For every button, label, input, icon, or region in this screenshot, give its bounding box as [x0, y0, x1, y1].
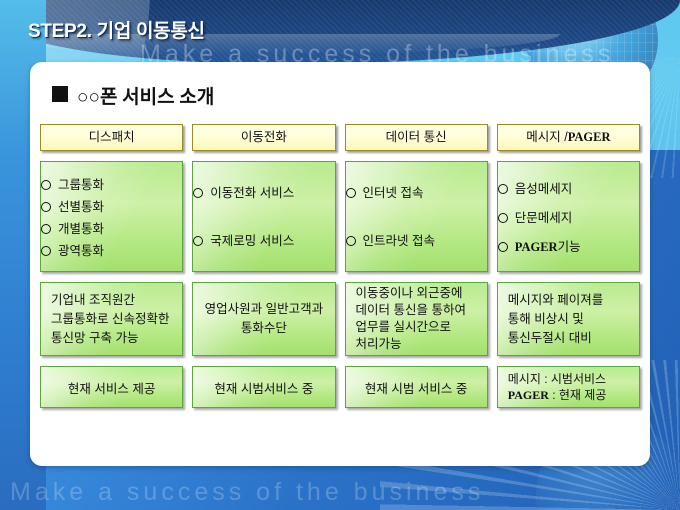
- square-bullet-icon: [52, 86, 68, 102]
- feature-box-data-comm[interactable]: 인터넷 접속 인트라넷 접속: [345, 161, 488, 272]
- table-cell: 기업내 조직원간 그룹통화로 신속정확한 통신망 구축 가능: [40, 282, 183, 356]
- status-badge: 현재 시범서비스 중: [214, 378, 313, 397]
- table-header-row: 디스패치 이동전화 데이터 통신 메시지 /PAGER: [40, 124, 640, 151]
- list-item: 광역통화: [41, 240, 182, 262]
- table-cell: 이동중이나 외근중에 데이터 통신을 통하여 업무를 실시간으로 처리가능: [345, 282, 488, 356]
- description-line: 이동중이나 외근중에: [356, 285, 487, 302]
- list-item-label: 인트라넷 접속: [363, 230, 435, 252]
- presentation-slide: Make a success of the business Make a su…: [0, 0, 680, 510]
- circle-bullet-icon: [346, 188, 356, 198]
- card-heading-text: ○○폰 서비스 소개: [77, 87, 214, 108]
- description-text: 기업내 조직원간 그룹통화로 신속정확한 통신망 구축 가능: [41, 291, 182, 348]
- list-item-label: 선별통화: [58, 196, 104, 218]
- description-line: 메시지와 페이져를: [508, 291, 639, 310]
- status-badge: 현재 시범 서비스 중: [365, 378, 467, 397]
- list-item-label: 국제로밍 서비스: [210, 230, 294, 252]
- list-item-label: 단문메세지: [515, 207, 573, 229]
- description-line: 통신두절시 대비: [508, 329, 639, 348]
- table-cell: 이동전화: [192, 124, 335, 151]
- table-cell: 메시지 /PAGER: [497, 124, 640, 151]
- list-item: 인터넷 접속: [346, 182, 487, 204]
- list-item-label: 광역통화: [58, 240, 104, 262]
- status-box-data-comm[interactable]: 현재 시범 서비스 중: [345, 366, 488, 408]
- feature-box-dispatch[interactable]: 그룹통화 선별통화 개별통화 광역통화: [40, 161, 183, 272]
- list-item-label: 인터넷 접속: [363, 182, 424, 204]
- description-text: 영업사원과 일반고객과 통화수단: [193, 300, 334, 338]
- status-box-dispatch[interactable]: 현재 서비스 제공: [40, 366, 183, 408]
- status-line-rest: : 현재 제공: [549, 388, 607, 402]
- list-item-label: 그룹통화: [58, 174, 104, 196]
- column-header-mobile-phone[interactable]: 이동전화: [192, 124, 335, 151]
- list-item: 단문메세지: [498, 207, 639, 229]
- status-box-mobile-phone[interactable]: 현재 시범서비스 중: [192, 366, 335, 408]
- table-cell: 데이터 통신: [345, 124, 488, 151]
- description-text: 이동중이나 외근중에 데이터 통신을 통하여 업무를 실시간으로 처리가능: [346, 285, 487, 353]
- table-cell: 그룹통화 선별통화 개별통화 광역통화: [40, 161, 183, 272]
- list-item-label: 음성메세지: [515, 178, 573, 200]
- table-cell: 메시지와 페이져를 통해 비상시 및 통신두절시 대비: [497, 282, 640, 356]
- list-item: 음성메세지: [498, 178, 639, 200]
- list-item-label: 기능: [558, 236, 581, 258]
- slide-title: STEP2. 기업 이동통신: [28, 16, 205, 43]
- column-header-message-pager[interactable]: 메시지 /PAGER: [497, 124, 640, 151]
- description-text: 메시지와 페이져를 통해 비상시 및 통신두절시 대비: [498, 291, 639, 348]
- list-item: 개별통화: [41, 218, 182, 240]
- description-line: 기업내 조직원간: [51, 291, 182, 310]
- status-line: 메시지 : 시범서비스: [508, 371, 639, 387]
- list-item-label-latin: PAGER: [515, 236, 558, 258]
- description-box-mobile-phone[interactable]: 영업사원과 일반고객과 통화수단: [192, 282, 335, 356]
- description-line: 데이터 통신을 통하여: [356, 302, 487, 319]
- list-item: 선별통화: [41, 196, 182, 218]
- list-item: PAGER 기능: [498, 236, 639, 258]
- status-badge: 메시지 : 시범서비스 PAGER : 현재 제공: [498, 371, 639, 403]
- circle-bullet-icon: [41, 202, 51, 212]
- list-item: 이동전화 서비스: [193, 182, 334, 204]
- table-description-row: 기업내 조직원간 그룹통화로 신속정확한 통신망 구축 가능 영업사원과 일반고…: [40, 282, 640, 356]
- content-card: ○○폰 서비스 소개 디스패치 이동전화 데이터 통신 메시지 /PAGER: [30, 62, 650, 466]
- description-line: 업무를 실시간으로: [356, 319, 487, 336]
- circle-bullet-icon: [498, 184, 508, 194]
- circle-bullet-icon: [41, 246, 51, 256]
- table-cell: 영업사원과 일반고객과 통화수단: [192, 282, 335, 356]
- list-item: 그룹통화: [41, 174, 182, 196]
- circle-bullet-icon: [193, 236, 203, 246]
- status-badge: 현재 서비스 제공: [68, 378, 155, 397]
- description-line: 통화수단: [193, 319, 334, 338]
- table-status-row: 현재 서비스 제공 현재 시범서비스 중 현재 시범 서비스 중: [40, 366, 640, 408]
- description-box-dispatch[interactable]: 기업내 조직원간 그룹통화로 신속정확한 통신망 구축 가능: [40, 282, 183, 356]
- table-cell: 현재 시범 서비스 중: [345, 366, 488, 408]
- list-item: 인트라넷 접속: [346, 230, 487, 252]
- feature-box-message-pager[interactable]: 음성메세지 단문메세지 PAGER 기능: [497, 161, 640, 272]
- description-box-message-pager[interactable]: 메시지와 페이져를 통해 비상시 및 통신두절시 대비: [497, 282, 640, 356]
- status-line-latin: PAGER: [508, 388, 549, 402]
- list-item: 국제로밍 서비스: [193, 230, 334, 252]
- column-header-data-comm[interactable]: 데이터 통신: [345, 124, 488, 151]
- service-comparison-table: 디스패치 이동전화 데이터 통신 메시지 /PAGER 그룹통화 선별통화: [40, 124, 640, 408]
- circle-bullet-icon: [193, 188, 203, 198]
- description-line: 통해 비상시 및: [508, 310, 639, 329]
- table-cell: 메시지 : 시범서비스 PAGER : 현재 제공: [497, 366, 640, 408]
- card-heading: ○○폰 서비스 소개: [52, 82, 214, 109]
- status-box-message-pager[interactable]: 메시지 : 시범서비스 PAGER : 현재 제공: [497, 366, 640, 408]
- column-header-message-pager-prefix: 메시지 /: [526, 130, 567, 144]
- table-cell: 디스패치: [40, 124, 183, 151]
- circle-bullet-icon: [346, 236, 356, 246]
- watermark-bottom: Make a success of the business: [10, 478, 484, 507]
- column-header-message-pager-latin: PAGER: [568, 130, 611, 144]
- description-line: 처리가능: [356, 336, 487, 353]
- table-feature-row: 그룹통화 선별통화 개별통화 광역통화 이동전화 서비스 국제로밍 서비스 인터…: [40, 161, 640, 272]
- feature-box-mobile-phone[interactable]: 이동전화 서비스 국제로밍 서비스: [192, 161, 335, 272]
- circle-bullet-icon: [498, 213, 508, 223]
- table-cell: 인터넷 접속 인트라넷 접속: [345, 161, 488, 272]
- circle-bullet-icon: [41, 180, 51, 190]
- circle-bullet-icon: [41, 224, 51, 234]
- table-cell: 현재 서비스 제공: [40, 366, 183, 408]
- table-cell: 현재 시범서비스 중: [192, 366, 335, 408]
- status-line: PAGER : 현재 제공: [508, 387, 639, 403]
- description-box-data-comm[interactable]: 이동중이나 외근중에 데이터 통신을 통하여 업무를 실시간으로 처리가능: [345, 282, 488, 356]
- description-line: 그룹통화로 신속정확한: [51, 310, 182, 329]
- column-header-dispatch[interactable]: 디스패치: [40, 124, 183, 151]
- circle-bullet-icon: [498, 242, 508, 252]
- list-item-label: 개별통화: [58, 218, 104, 240]
- table-cell: 음성메세지 단문메세지 PAGER 기능: [497, 161, 640, 272]
- list-item-label: 이동전화 서비스: [210, 182, 294, 204]
- table-cell: 이동전화 서비스 국제로밍 서비스: [192, 161, 335, 272]
- description-line: 영업사원과 일반고객과: [193, 300, 334, 319]
- description-line: 통신망 구축 가능: [51, 329, 182, 348]
